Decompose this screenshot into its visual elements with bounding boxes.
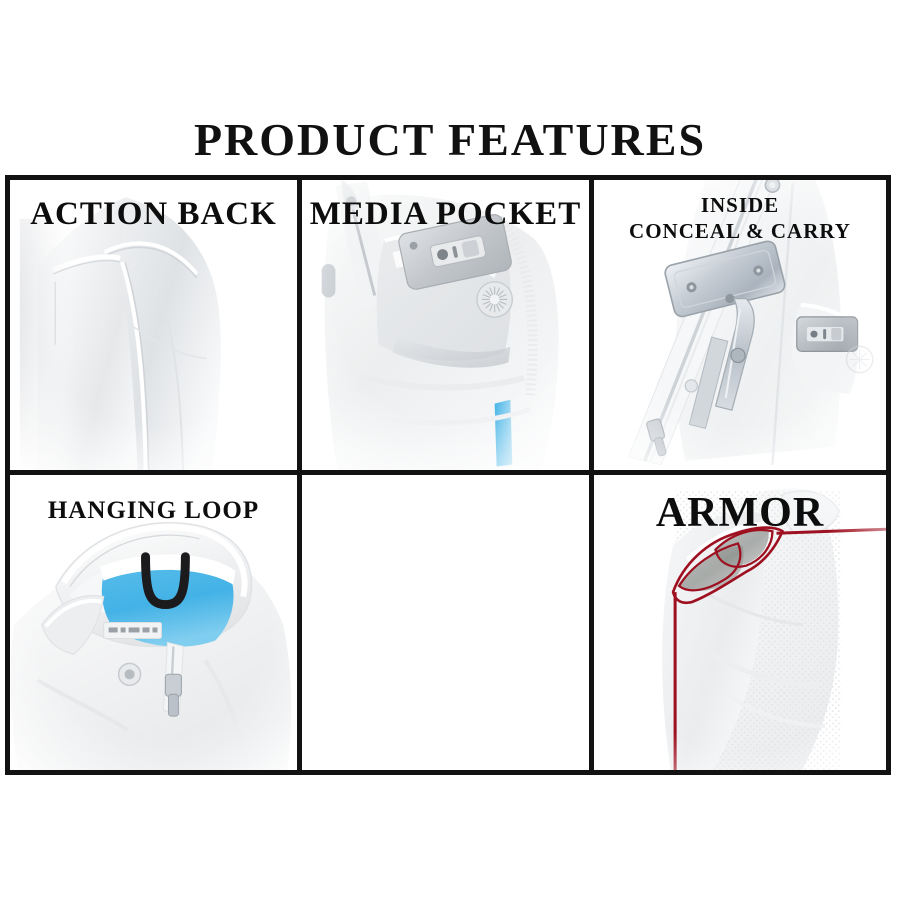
feature-cell-inside-conceal-carry[interactable]: INSIDE CONCEAL & CARRY [594,180,886,475]
armor-image [594,475,886,770]
features-grid: ACTION BACK [5,175,891,775]
feature-cell-armor[interactable]: ARMOR [594,475,886,770]
feature-cell-hanging-loop[interactable]: HANGING LOOP [10,475,302,770]
feature-cell-media-pocket[interactable]: MEDIA POCKET [302,180,594,475]
inside-conceal-carry-image [594,180,886,470]
product-features-infographic: PRODUCT FEATURES [0,0,900,900]
hanging-loop-image [10,475,297,770]
page-title: PRODUCT FEATURES [0,113,900,167]
feature-label-empty [302,475,589,496]
feature-cell-empty [302,475,594,770]
media-pocket-image [302,180,589,470]
feature-cell-action-back[interactable]: ACTION BACK [10,180,302,475]
action-back-image [10,180,297,470]
